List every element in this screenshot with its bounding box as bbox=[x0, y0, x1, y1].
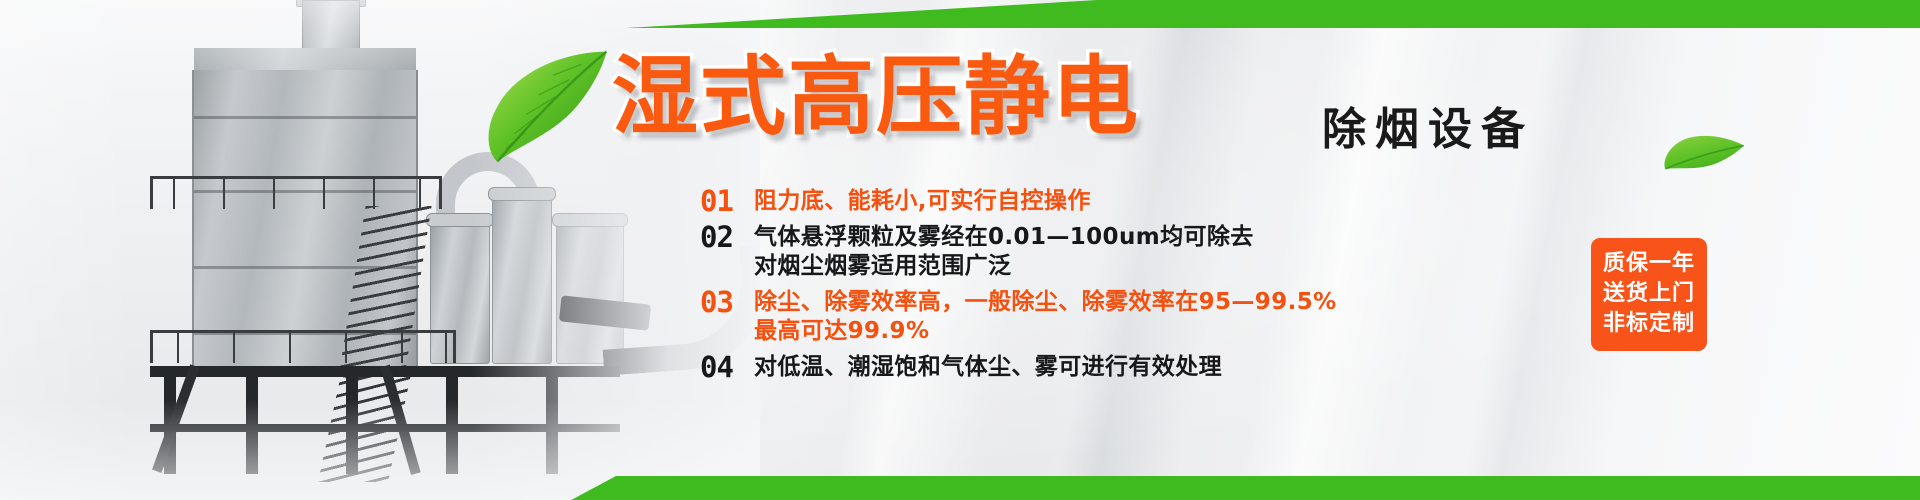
badge-line: 质保一年 bbox=[1599, 249, 1699, 279]
feature-number: 01 bbox=[700, 186, 754, 216]
page-title: 湿式高压静电 bbox=[612, 54, 1140, 140]
promo-banner: 湿式高压静电 除烟设备 01 阻力底、能耗小,可实行自控操作 02 气体悬浮颗粒… bbox=[0, 0, 1920, 500]
feature-text: 阻力底、能耗小,可实行自控操作 bbox=[754, 186, 1091, 216]
feature-line: 气体悬浮颗粒及雾经在0.01—100um均可除去 bbox=[754, 223, 1254, 252]
list-item: 03 除尘、除雾效率高，一般除尘、除雾效率在95—99.5% 最高可达99.9% bbox=[700, 287, 1520, 346]
feature-line: 除尘、除雾效率高，一般除尘、除雾效率在95—99.5% bbox=[754, 288, 1337, 317]
leaf-icon bbox=[473, 45, 624, 169]
feature-number: 04 bbox=[700, 352, 754, 382]
feature-text: 对低温、潮湿饱和气体尘、雾可进行有效处理 bbox=[754, 352, 1222, 382]
list-item: 04 对低温、潮湿饱和气体尘、雾可进行有效处理 bbox=[700, 352, 1520, 382]
list-item: 02 气体悬浮颗粒及雾经在0.01—100um均可除去 对烟尘烟雾适用范围广泛 bbox=[700, 222, 1520, 281]
feature-list: 01 阻力底、能耗小,可实行自控操作 02 气体悬浮颗粒及雾经在0.01—100… bbox=[700, 186, 1520, 388]
badge-line: 送货上门 bbox=[1599, 279, 1699, 309]
feature-line: 阻力底、能耗小,可实行自控操作 bbox=[754, 187, 1091, 216]
page-subtitle: 除烟设备 bbox=[1322, 108, 1534, 152]
green-accent-bottom bbox=[560, 476, 1920, 500]
list-item: 01 阻力底、能耗小,可实行自控操作 bbox=[700, 186, 1520, 216]
feature-text: 气体悬浮颗粒及雾经在0.01—100um均可除去 对烟尘烟雾适用范围广泛 bbox=[754, 222, 1254, 281]
feature-number: 02 bbox=[700, 222, 754, 252]
feature-line: 对低温、潮湿饱和气体尘、雾可进行有效处理 bbox=[754, 353, 1222, 382]
badge-line: 非标定制 bbox=[1599, 309, 1699, 339]
feature-text: 除尘、除雾效率高，一般除尘、除雾效率在95—99.5% 最高可达99.9% bbox=[754, 287, 1337, 346]
guarantee-badge: 质保一年 送货上门 非标定制 bbox=[1591, 238, 1707, 351]
feature-line: 最高可达99.9% bbox=[754, 317, 1337, 346]
feature-number: 03 bbox=[700, 287, 754, 317]
feature-line: 对烟尘烟雾适用范围广泛 bbox=[754, 252, 1254, 281]
